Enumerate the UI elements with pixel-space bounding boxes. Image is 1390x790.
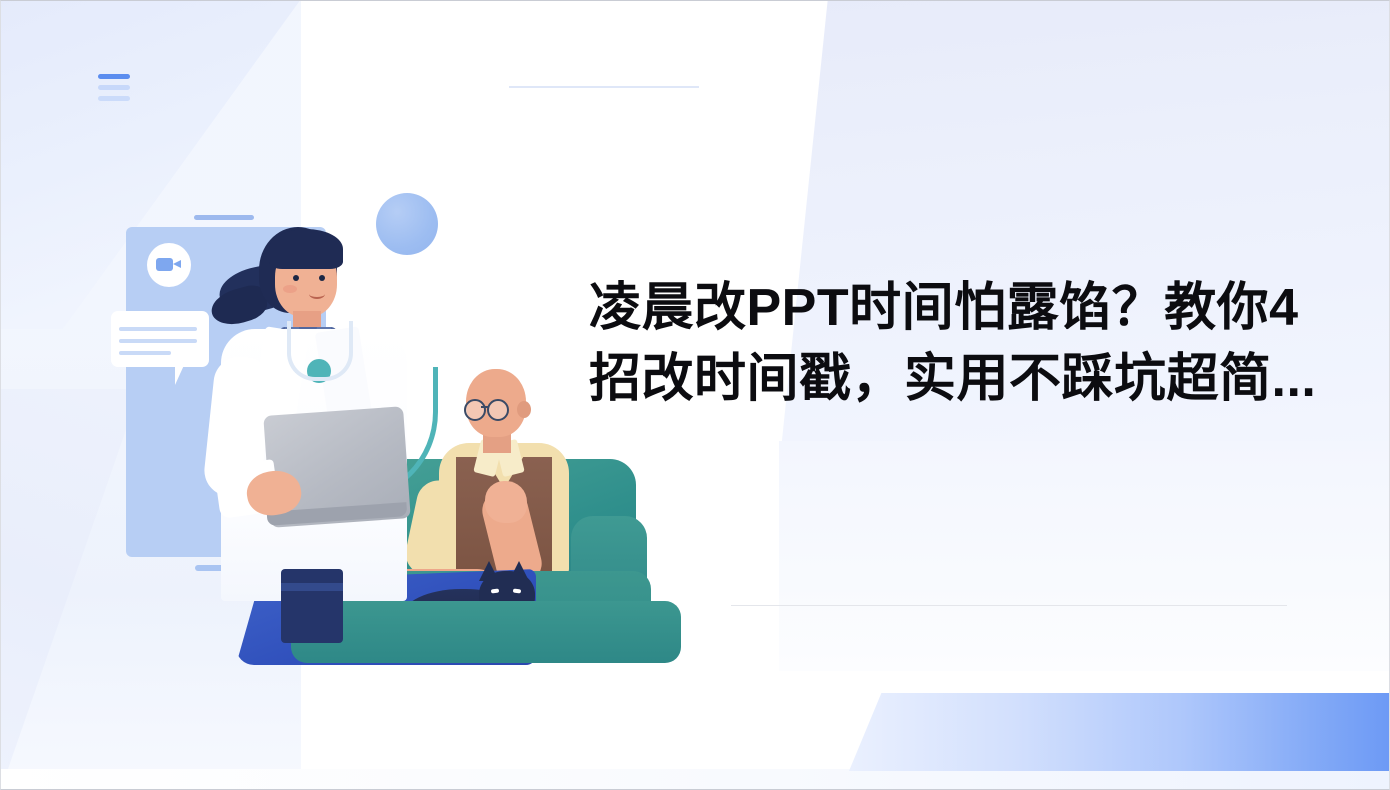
- wall-clock-icon: [376, 193, 438, 255]
- patient-ear: [517, 401, 531, 418]
- glasses-lens-left: [464, 399, 486, 421]
- chat-bubble-tail: [175, 363, 185, 385]
- chat-line-2: [119, 339, 197, 343]
- medical-shield-badge: [91, 496, 207, 622]
- video-call-icon: [147, 243, 191, 287]
- doctor-eye-left: [293, 275, 299, 281]
- background-right-fade: [779, 441, 1389, 671]
- telemedicine-illustration: [71, 171, 671, 641]
- glasses-lens-right: [487, 399, 509, 421]
- slide-title-line-1: 凌晨改PPT时间怕露馅？教你4: [589, 273, 1390, 344]
- chat-line-3: [119, 351, 171, 355]
- hamburger-menu-button[interactable]: [98, 74, 131, 101]
- decorative-rule-top: [509, 86, 699, 88]
- glasses-bridge: [481, 406, 489, 408]
- background-bottom-strip: [1, 769, 1389, 789]
- doctor-cheek: [283, 285, 297, 293]
- hamburger-bar-3-icon: [98, 96, 130, 101]
- doctor-trousers-stripe: [281, 583, 343, 591]
- slide-title-line-2: 招改时间戳，实用不踩坑超简...: [589, 344, 1390, 415]
- hamburger-bar-1-icon: [98, 74, 130, 79]
- doctor-smile: [309, 289, 325, 299]
- doctor-eye-right: [319, 275, 325, 281]
- slide-title: 凌晨改PPT时间怕露馅？教你4 招改时间戳，实用不踩坑超简...: [589, 273, 1390, 414]
- chat-line-1: [119, 327, 197, 331]
- hamburger-bar-2-icon: [98, 85, 130, 90]
- phone-notch: [194, 215, 254, 220]
- doctor-hair-top: [269, 229, 343, 269]
- presentation-slide: 凌晨改PPT时间怕露馅？教你4 招改时间戳，实用不踩坑超简...: [0, 0, 1390, 790]
- armchair-front: [291, 601, 681, 663]
- patient-hand: [485, 481, 527, 523]
- background-bottom-blue-band: [849, 693, 1389, 771]
- decorative-rule-bottom: [731, 605, 1287, 606]
- doctor-trousers: [281, 569, 343, 643]
